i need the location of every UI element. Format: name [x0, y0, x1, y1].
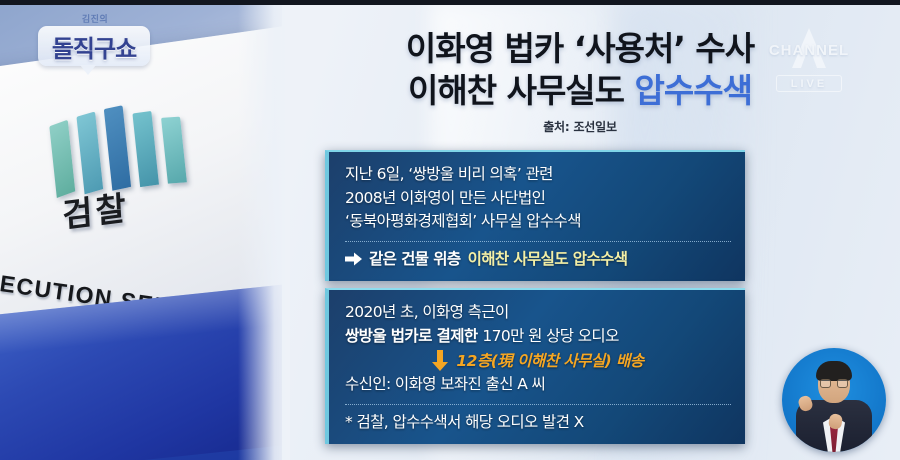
- panel2-recipient-line: 수신인: 이화영 보좌진 출신 A 씨: [345, 373, 731, 397]
- interpreter-hair: [816, 361, 852, 381]
- panel2-bold-prefix: 쌍방울 법카로 결제한: [345, 327, 482, 345]
- panel1-line-3: ‘동북아평화경제협회’ 사무실 압수수색: [345, 210, 731, 234]
- panel2-line-1: 2020년 초, 이화영 측근이: [345, 301, 731, 325]
- panel2-orange-text: 12층(現 이해찬 사무실) 배송: [456, 349, 643, 371]
- headline-accent-text: 압수수색: [635, 71, 752, 110]
- panel1-arrow-line: 같은 건물 위층 이해찬 사무실도 압수수색: [345, 248, 731, 272]
- arrow-right-icon: [345, 252, 362, 266]
- show-logo: 김진의 돌직구쇼: [38, 12, 150, 74]
- interpreter-glasses-icon: [820, 379, 848, 388]
- headline-source: 출처: 조선일보: [300, 118, 860, 135]
- panel2-footnote: * 검찰, 압수수색서 해당 오디오 발견 X: [345, 411, 731, 435]
- arrow-down-icon: [432, 350, 448, 371]
- panel1-line-2: 2008년 이화영이 만든 사단법인: [345, 187, 731, 211]
- headline-line-2-plain: 이해찬 사무실도: [408, 71, 635, 110]
- headline-line-1: 이화영 법카 ‘사용처’ 수사: [300, 28, 860, 70]
- panel1-divider: [345, 241, 731, 242]
- panel-raid-summary: 지난 6일, ‘쌍방울 비리 의혹’ 관련 2008년 이화영이 만든 사단법인…: [325, 150, 745, 281]
- info-panels: 지난 6일, ‘쌍방울 비리 의혹’ 관련 2008년 이화영이 만든 사단법인…: [325, 150, 745, 444]
- panel-audio-delivery: 2020년 초, 이화영 측근이 쌍방울 법카로 결제한 170만 원 상당 오…: [325, 288, 745, 444]
- show-logo-subtitle: 김진의: [66, 12, 124, 25]
- panel1-arrow-plain: 같은 건물 위층: [369, 248, 461, 272]
- show-logo-title: 돌직구쇼: [38, 29, 150, 64]
- photo-sign-korean-text: 검찰: [61, 181, 130, 237]
- top-black-bar: [0, 0, 900, 5]
- panel1-line-1: 지난 6일, ‘쌍방울 비리 의혹’ 관련: [345, 163, 731, 187]
- sign-language-interpreter: [782, 348, 886, 452]
- panel1-arrow-highlight: 이해찬 사무실도 압수수색: [468, 248, 628, 272]
- panel2-bold-line: 쌍방울 법카로 결제한 170만 원 상당 오디오: [345, 325, 731, 349]
- panel2-divider: [345, 404, 731, 405]
- broadcast-screen: 검찰 SECUTION SERVICE 김진의 돌직구쇼 CHANNEL LIV…: [0, 0, 900, 460]
- panel2-orange-row: 12층(現 이해찬 사무실) 배송: [345, 349, 731, 371]
- panel2-bold-rest: 170만 원 상당 오디오: [482, 327, 618, 345]
- photo-edge-fade: [238, 0, 290, 460]
- headline-block: 이화영 법카 ‘사용처’ 수사 이해찬 사무실도 압수수색 출처: 조선일보: [300, 28, 860, 135]
- headline-line-2: 이해찬 사무실도 압수수색: [300, 70, 860, 112]
